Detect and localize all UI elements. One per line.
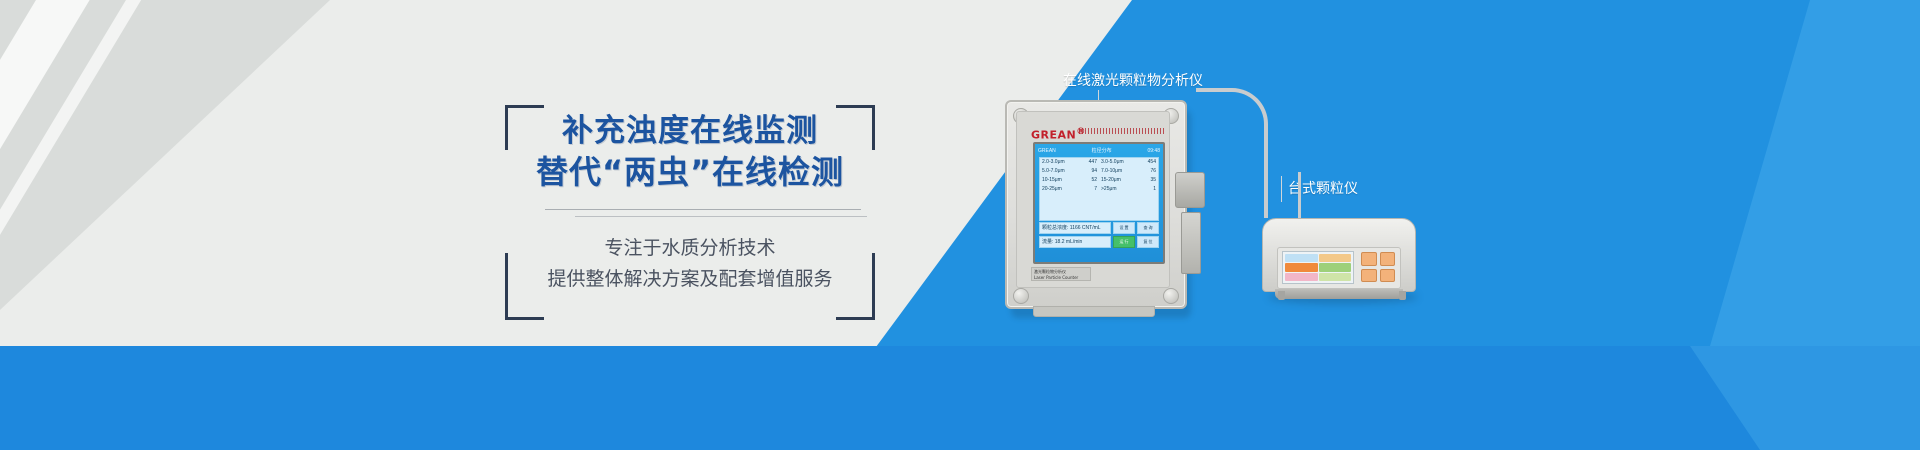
bench-screen-tile bbox=[1285, 273, 1318, 281]
lcd-cell-range: >25μm bbox=[1099, 185, 1130, 194]
lcd-status-row-2: 流量: 18.2 mL/min 运 行 复 位 bbox=[1039, 236, 1159, 248]
bench-leg-left bbox=[1278, 291, 1285, 300]
bench-key[interactable] bbox=[1361, 269, 1377, 283]
divider-line-upper bbox=[545, 209, 861, 210]
headline-block: 补充浊度在线监测 替代“两虫”在线检测 专注于水质分析技术 提供整体解决方案及配… bbox=[505, 105, 875, 320]
lcd-cell-range: 10-15μm bbox=[1040, 176, 1071, 185]
subtitle: 专注于水质分析技术 提供整体解决方案及配套增值服务 bbox=[505, 233, 875, 295]
analyzer-nameplate-en: Laser Particle Counter bbox=[1034, 275, 1088, 281]
bench-screen-tile bbox=[1319, 263, 1352, 271]
subtitle-line-1: 专注于水质分析技术 bbox=[505, 233, 875, 264]
bench-lcd-screen[interactable] bbox=[1282, 251, 1354, 284]
bench-leg-right bbox=[1399, 291, 1406, 300]
background bbox=[0, 0, 1920, 450]
bench-key[interactable] bbox=[1361, 252, 1377, 266]
bench-enclosure bbox=[1262, 218, 1416, 292]
lcd-title-center: 粒径分布 bbox=[1092, 147, 1112, 154]
lcd-cell-range: 15-20μm bbox=[1099, 176, 1130, 185]
bench-key[interactable] bbox=[1380, 252, 1396, 266]
lcd-cell-count: 94 bbox=[1071, 167, 1099, 176]
analyzer-vent-hatch bbox=[1079, 128, 1165, 134]
analyzer-nameplate: 激光颗粒物分析仪 Laser Particle Counter bbox=[1031, 267, 1091, 281]
lcd-cell-count: 76 bbox=[1130, 167, 1158, 176]
lcd-title-bar: GREAN 粒径分布 09:48 bbox=[1035, 146, 1163, 155]
lcd-particle-table: 2.0-3.0μm 447 3.0-5.0μm 454 5.0-7.0μm 94… bbox=[1039, 157, 1159, 221]
lcd-cell-range: 2.0-3.0μm bbox=[1040, 158, 1071, 167]
analyzer-latch-bottom-right-icon bbox=[1163, 288, 1179, 304]
callout-label-analyzer: 在线激光颗粒物分析仪 bbox=[1063, 70, 1203, 90]
bench-screen-tile bbox=[1319, 273, 1352, 281]
divider-line-lower bbox=[575, 216, 867, 217]
lcd-cell-count: 7 bbox=[1071, 185, 1099, 194]
analyzer-brand-text: GREAN bbox=[1031, 129, 1076, 142]
lcd-button-reset[interactable]: 复 位 bbox=[1137, 236, 1159, 248]
bench-screen-tile bbox=[1285, 263, 1318, 271]
lcd-cell-count: 454 bbox=[1130, 158, 1158, 167]
lcd-status-rows: 颗粒总浓度: 1166 CNT/mL 设 置 查 询 流量: 18.2 mL/m… bbox=[1039, 222, 1159, 252]
analyzer-front-panel: GREAN® GREAN 粒径分布 09:48 2.0-3.0μm 447 3.… bbox=[1016, 111, 1170, 288]
lcd-cell-count: 447 bbox=[1071, 158, 1099, 167]
bench-screen-tile bbox=[1319, 254, 1352, 262]
lcd-cell-count: 35 bbox=[1130, 176, 1158, 185]
lcd-concentration-field: 颗粒总浓度: 1166 CNT/mL bbox=[1039, 222, 1111, 234]
lcd-cell-range: 20-25μm bbox=[1040, 185, 1071, 194]
analyzer-side-port-lower bbox=[1181, 212, 1201, 274]
lcd-title-left: GREAN bbox=[1038, 148, 1056, 154]
analyzer-base-trim bbox=[1033, 306, 1155, 317]
bench-support-rod bbox=[1298, 172, 1301, 224]
benchtop-particle-counter bbox=[1262, 212, 1422, 308]
connecting-tube bbox=[1196, 88, 1268, 218]
bench-key[interactable] bbox=[1380, 269, 1396, 283]
lcd-cell-range: 3.0-5.0μm bbox=[1099, 158, 1130, 167]
promo-banner: 补充浊度在线监测 替代“两虫”在线检测 专注于水质分析技术 提供整体解决方案及配… bbox=[0, 0, 1920, 450]
lcd-button-query[interactable]: 查 询 bbox=[1137, 222, 1159, 234]
analyzer-brand-logo: GREAN® bbox=[1031, 126, 1086, 142]
bench-screen-tile bbox=[1285, 254, 1318, 262]
analyzer-enclosure: GREAN® GREAN 粒径分布 09:48 2.0-3.0μm 447 3.… bbox=[1005, 100, 1187, 309]
subtitle-line-2: 提供整体解决方案及配套增值服务 bbox=[505, 264, 875, 295]
headline: 补充浊度在线监测 替代“两虫”在线检测 bbox=[505, 111, 875, 193]
lcd-title-right: 09:48 bbox=[1147, 148, 1160, 154]
lcd-cell-count: 52 bbox=[1071, 176, 1099, 185]
analyzer-lcd-screen[interactable]: GREAN 粒径分布 09:48 2.0-3.0μm 447 3.0-5.0μm… bbox=[1033, 142, 1165, 264]
headline-line-2: 替代“两虫”在线检测 bbox=[505, 152, 875, 193]
analyzer-latch-bottom-left-icon bbox=[1013, 288, 1029, 304]
callout-leader-bench bbox=[1281, 176, 1282, 202]
bench-control-face bbox=[1277, 247, 1401, 289]
lcd-cell-count: 1 bbox=[1130, 185, 1158, 194]
lcd-cell-range: 7.0-10μm bbox=[1099, 167, 1130, 176]
lcd-button-settings[interactable]: 设 置 bbox=[1113, 222, 1135, 234]
online-laser-particle-analyzer: GREAN® GREAN 粒径分布 09:48 2.0-3.0μm 447 3.… bbox=[1005, 100, 1190, 315]
lcd-button-run[interactable]: 运 行 bbox=[1113, 236, 1135, 248]
divider-group bbox=[519, 209, 861, 223]
lcd-cell-range: 5.0-7.0μm bbox=[1040, 167, 1071, 176]
bench-keypad[interactable] bbox=[1361, 252, 1395, 282]
bench-sample-tray bbox=[1275, 289, 1403, 299]
lcd-flow-field: 流量: 18.2 mL/min bbox=[1039, 236, 1111, 248]
lcd-status-row-1: 颗粒总浓度: 1166 CNT/mL 设 置 查 询 bbox=[1039, 222, 1159, 234]
background-blue-bottom-band bbox=[0, 346, 1920, 450]
headline-line-1: 补充浊度在线监测 bbox=[505, 111, 875, 152]
